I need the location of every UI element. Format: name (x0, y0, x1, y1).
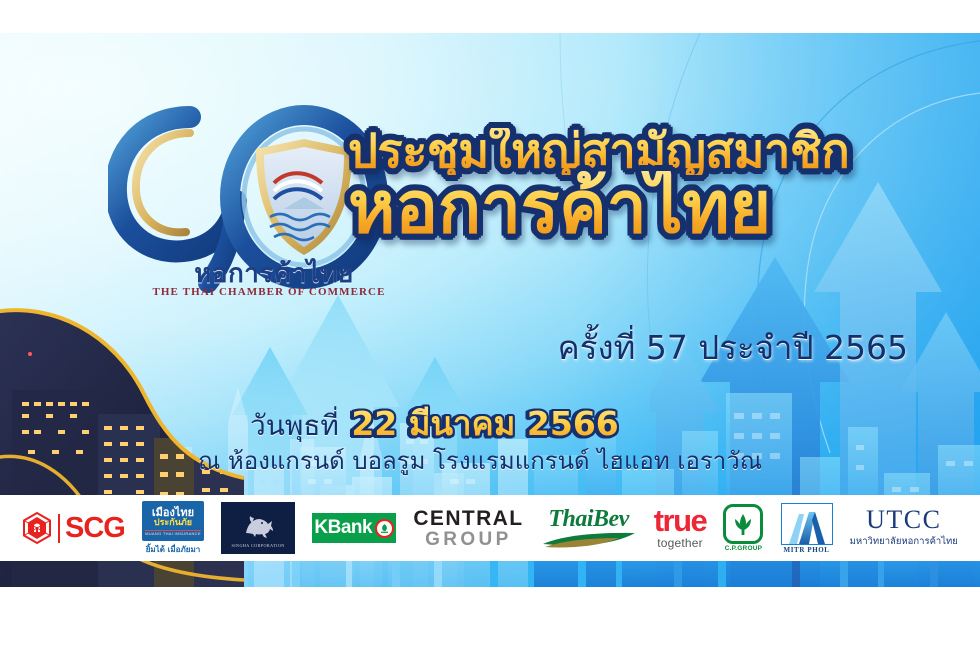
central-line-2: GROUP (425, 530, 512, 549)
venue-text: ณ ห้องแกรนด์ บอลรูม โรงแรมแกรนด์ ไฮแอท เ… (150, 441, 810, 480)
muang-thai-badge: เมืองไทย ประกันภัย MUANG THAI INSURANCE (142, 501, 204, 541)
scg-wordmark: SCG (58, 514, 125, 543)
sponsor-logo-strip: SCG เมืองไทย ประกันภัย MUANG THAI INSURA… (0, 495, 980, 561)
chamber-90th-anniversary-logo: หอการค้าไทย THE THAI CHAMBER OF COMMERCE (108, 101, 388, 321)
utcc-wordmark: UTCC (866, 507, 941, 533)
edition-text: ครั้งที่ 57 ประจำปี 2565 (348, 321, 908, 374)
cp-lotus-icon (729, 510, 757, 538)
singha-lion-icon (238, 509, 278, 541)
singha-badge: SINGHA CORPORATION (221, 502, 295, 554)
scg-elephant-hexagon-icon (22, 512, 52, 544)
banner-artwork: หอการค้าไทย THE THAI CHAMBER OF COMMERCE… (0, 33, 980, 587)
kbank-badge: KBank (312, 513, 396, 543)
logo-english-name: THE THAI CHAMBER OF COMMERCE (144, 286, 394, 298)
kbank-wordmark: KBank (314, 517, 372, 539)
muang-thai-line-3: MUANG THAI INSURANCE (145, 530, 201, 536)
sponsor-logo-mitr-phol[interactable]: MITR PHOL (781, 499, 833, 557)
sponsor-logo-scg[interactable]: SCG (22, 499, 125, 557)
muang-thai-line-2: ประกันภัย (154, 519, 192, 528)
sponsor-logo-true[interactable]: true together (654, 499, 707, 557)
event-poster: หอการค้าไทย THE THAI CHAMBER OF COMMERCE… (0, 0, 980, 655)
sponsor-logo-singha-corporation[interactable]: SINGHA CORPORATION (221, 499, 295, 557)
true-wordmark: true (654, 506, 707, 535)
headline-block: ประชุมใหญ่สามัญสมาชิก หอการค้าไทย (348, 128, 908, 243)
utcc-thai-name: มหาวิทยาลัยหอการค้าไทย (850, 534, 958, 549)
thaibev-wordmark: ThaiBev (548, 507, 629, 531)
sponsor-logo-central-group[interactable]: CENTRAL GROUP (413, 499, 523, 557)
muang-thai-tagline: ยิ้มได้ เมื่อภัยมา (146, 543, 201, 556)
sponsor-logo-thaibev[interactable]: ThaiBev (541, 499, 637, 557)
singha-wordmark: SINGHA CORPORATION (232, 543, 285, 548)
mitr-phol-badge (781, 503, 833, 545)
central-line-1: CENTRAL (413, 508, 523, 529)
mitr-phol-m-icon (785, 510, 829, 544)
thaibev-swoosh-icon (541, 531, 637, 549)
headline-line-2: หอการค้าไทย (348, 171, 908, 243)
muang-thai-line-1: เมืองไทย (152, 507, 194, 518)
mitr-phol-wordmark: MITR PHOL (784, 546, 830, 554)
date-value: 22 มีนาคม 2566 (351, 404, 618, 443)
sponsor-logo-muang-thai-insurance[interactable]: เมืองไทย ประกันภัย MUANG THAI INSURANCE … (142, 499, 204, 557)
kbank-seal-icon (375, 519, 394, 538)
cp-wordmark: C.P.GROUP (725, 545, 762, 552)
sponsor-logo-utcc[interactable]: UTCC มหาวิทยาลัยหอการค้าไทย (850, 499, 958, 557)
sponsor-logo-kbank[interactable]: KBank (312, 499, 396, 557)
date-prefix: วันพุธที่ (250, 409, 339, 442)
sponsor-logo-cp-group[interactable]: C.P.GROUP (723, 499, 763, 557)
true-tagline: together (657, 536, 703, 550)
cp-badge (723, 504, 763, 544)
